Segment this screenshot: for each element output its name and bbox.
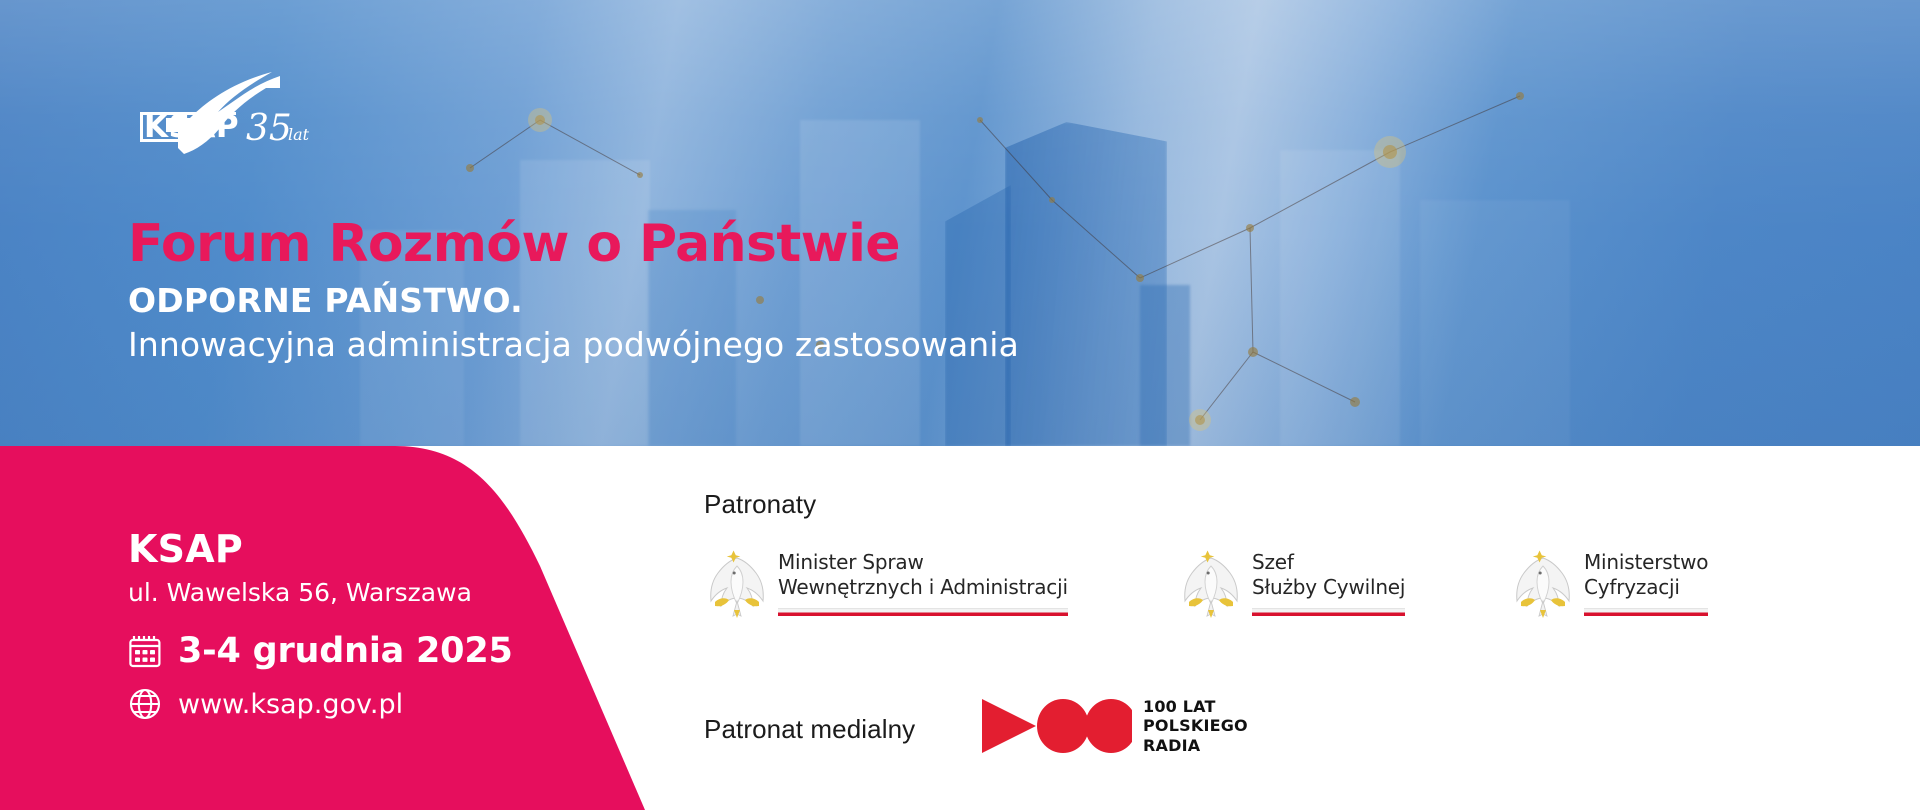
flag-accent-bar xyxy=(1584,608,1708,616)
ksap-wing-logo: KSAP 35 lat xyxy=(126,70,336,160)
polish-radio-wordmark: 100 LAT POLSKIEGO RADIA xyxy=(1143,697,1248,756)
patronage-label: Patronaty xyxy=(704,489,816,520)
media-patronage-label: Patronat medialny xyxy=(704,714,915,745)
svg-text:35: 35 xyxy=(246,108,292,149)
event-banner: KSAP 35 lat Forum Rozmów o Państwie ODPO… xyxy=(0,0,1920,810)
radio-line-3: RADIA xyxy=(1143,736,1248,756)
patron-logo[interactable]: Minister Spraw Wewnętrznych i Administra… xyxy=(706,546,1068,622)
patron-logo[interactable]: Szef Służby Cywilnej xyxy=(1180,546,1405,622)
polish-radio-mark xyxy=(980,696,1132,756)
patron-logo-text: Ministerstwo Cyfryzacji xyxy=(1584,546,1708,616)
patron-line-1: Minister Spraw xyxy=(778,550,1068,575)
date-row: 3-4 grudnia 2025 xyxy=(128,633,548,669)
event-website[interactable]: www.ksap.gov.pl xyxy=(178,691,403,718)
globe-icon xyxy=(128,687,162,721)
patron-logo[interactable]: Ministerstwo Cyfryzacji xyxy=(1512,546,1708,622)
radio-line-1: 100 LAT xyxy=(1143,697,1248,717)
radio-line-2: POLSKIEGO xyxy=(1143,716,1248,736)
patronage-area: Patronaty xyxy=(700,446,1920,810)
patron-logo-text: Minister Spraw Wewnętrznych i Administra… xyxy=(778,546,1068,616)
calendar-icon xyxy=(128,633,162,669)
polish-eagle-emblem xyxy=(706,546,768,622)
patron-line-2: Wewnętrznych i Administracji xyxy=(778,575,1068,600)
patron-logo-text: Szef Służby Cywilnej xyxy=(1252,546,1405,616)
hero-background: KSAP 35 lat Forum Rozmów o Państwie ODPO… xyxy=(0,0,1920,446)
venue-address: ul. Wawelska 56, Warszawa xyxy=(128,580,548,605)
polish-eagle-emblem xyxy=(1512,546,1574,622)
details-content: KSAP ul. Wawelska 56, Warszawa 3-4 xyxy=(128,530,548,739)
patron-logo-list: Minister Spraw Wewnętrznych i Administra… xyxy=(700,546,1920,638)
flag-accent-bar xyxy=(778,608,1068,616)
event-date: 3-4 grudnia 2025 xyxy=(178,634,513,669)
patron-line-1: Ministerstwo xyxy=(1584,550,1708,575)
polish-radio-logo[interactable]: 100 LAT POLSKIEGO RADIA xyxy=(980,696,1248,756)
venue-name: KSAP xyxy=(128,530,548,568)
headline-block: Forum Rozmów o Państwie ODPORNE PAŃSTWO.… xyxy=(128,218,1328,363)
flag-accent-bar xyxy=(1252,608,1405,616)
svg-text:lat: lat xyxy=(288,125,310,144)
ksap-logo[interactable]: KSAP 35 lat xyxy=(126,70,336,160)
patron-line-2: Cyfryzacji xyxy=(1584,575,1708,600)
event-subtitle-light: Innowacyjna administracja podwójnego zas… xyxy=(128,327,1328,363)
patron-line-1: Szef xyxy=(1252,550,1405,575)
polish-eagle-emblem xyxy=(1180,546,1242,622)
page-title: Forum Rozmów o Państwie xyxy=(128,218,1328,270)
event-subtitle-strong: ODPORNE PAŃSTWO. xyxy=(128,284,1328,319)
website-row[interactable]: www.ksap.gov.pl xyxy=(128,687,548,721)
patron-line-2: Służby Cywilnej xyxy=(1252,575,1405,600)
